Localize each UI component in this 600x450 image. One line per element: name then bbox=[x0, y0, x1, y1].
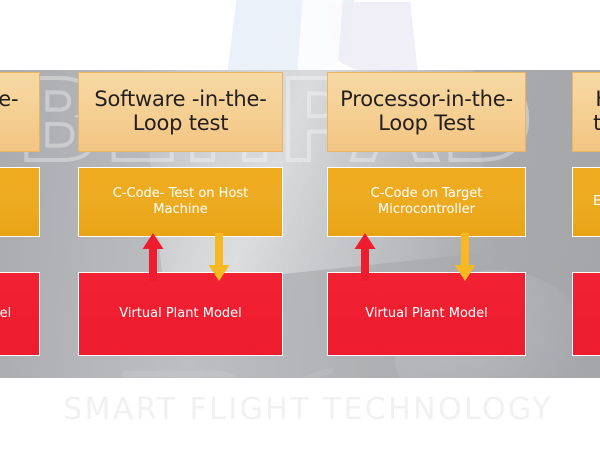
code-box-software-in-the-loop: C-Code- Test on Host Machine bbox=[78, 167, 283, 237]
title-box-processor-in-the-loop: Processor-in-the-Loop Test bbox=[327, 72, 526, 152]
code-text: C-Code- Test on Host Machine bbox=[85, 186, 276, 219]
brand-tagline-watermark: SMART FLIGHT TECHNOLOGY bbox=[28, 392, 588, 427]
plant-box-software-in-the-loop: Virtual Plant Model bbox=[78, 272, 283, 356]
code-text: C-Code on Target Microcontroller bbox=[334, 186, 519, 219]
brand-swoosh-watermark bbox=[118, 358, 343, 378]
arrow-up-red-software bbox=[140, 233, 166, 281]
diagram-canvas: BEHPAD Model-in-the-Loop test Plant Mode… bbox=[0, 0, 600, 450]
title-box-hardware-in-the-loop: Hardware-in-the-Loop Test bbox=[572, 72, 600, 152]
plant-box-model-in-the-loop: Virtual Plant Model bbox=[0, 272, 40, 356]
code-box-model-in-the-loop: Plant Model bbox=[0, 167, 40, 237]
title-text: Processor-in-the-Loop Test bbox=[332, 88, 521, 135]
arrow-up-red-processor bbox=[352, 233, 378, 281]
plant-box-hardware-in-the-loop: Real Plant bbox=[572, 272, 600, 356]
brand-logo-watermark-shape-b bbox=[326, 2, 417, 72]
plant-text: Virtual Plant Model bbox=[365, 306, 488, 322]
code-box-processor-in-the-loop: C-Code on Target Microcontroller bbox=[327, 167, 526, 237]
title-text: Software -in-the-Loop test bbox=[83, 88, 278, 135]
plant-text: Virtual Plant Model bbox=[119, 306, 242, 322]
plant-text: Virtual Plant Model bbox=[0, 306, 11, 322]
code-text: Embedded Controller bbox=[593, 194, 600, 210]
code-box-hardware-in-the-loop: Embedded Controller bbox=[572, 167, 600, 237]
arrow-down-yellow-software bbox=[206, 233, 232, 281]
plant-box-processor-in-the-loop: Virtual Plant Model bbox=[327, 272, 526, 356]
title-text: Hardware-in-the-Loop Test bbox=[577, 88, 600, 135]
title-box-software-in-the-loop: Software -in-the-Loop test bbox=[78, 72, 283, 152]
title-text: Model-in-the-Loop test bbox=[0, 88, 35, 135]
title-box-model-in-the-loop: Model-in-the-Loop test bbox=[0, 72, 40, 152]
brand-logo-watermark-shape-c bbox=[297, 0, 342, 72]
arrow-down-yellow-processor bbox=[452, 233, 478, 281]
brand-logo-watermark-shape-a bbox=[227, 0, 355, 76]
